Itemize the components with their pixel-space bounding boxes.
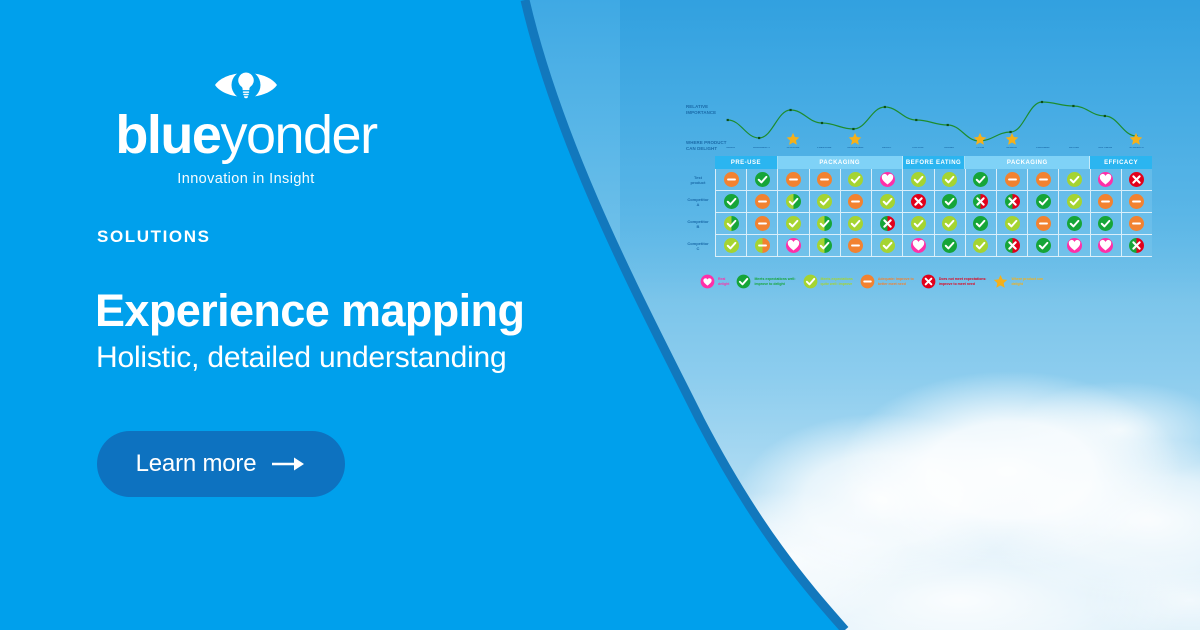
fails-badge-icon: [973, 194, 988, 209]
eyebrow-label: SOLUTIONS: [97, 227, 211, 247]
exceeds-badge-icon: [724, 216, 739, 231]
legend-label: Real delight: [718, 277, 729, 286]
matrix-cell[interactable]: [778, 213, 809, 235]
adequate-badge-icon: [1005, 172, 1020, 187]
matrix-cell[interactable]: [903, 169, 934, 191]
matrix-cell[interactable]: [966, 191, 997, 213]
delight-star-icon: [996, 132, 1027, 146]
meets-badge-icon: [1067, 172, 1082, 187]
attribute-label: COLOUR: [902, 147, 933, 150]
attribute-label-row: SHAPEHOLDABILITYCLOSUREPRESSUREDISPENSIN…: [715, 147, 1152, 156]
exceeds-badge-icon: [817, 238, 832, 253]
delight-badge-icon: [1098, 172, 1113, 187]
matrix-cell[interactable]: [872, 191, 903, 213]
adequate-badge-icon: [1129, 194, 1144, 209]
matrix-cell[interactable]: [935, 235, 966, 257]
adequate-badge-icon: [755, 238, 770, 253]
meets-badge-icon: [848, 216, 863, 231]
matrix-cell[interactable]: [1028, 169, 1059, 191]
matrix-cell[interactable]: [1122, 169, 1152, 191]
meets-badge-icon: [848, 172, 863, 187]
adequate-badge-icon: [1036, 172, 1051, 187]
delight-star-icon: [965, 132, 996, 146]
matrix-cell[interactable]: [966, 169, 997, 191]
exceeds-badge-icon: [724, 194, 739, 209]
page-title: Experience mapping: [95, 288, 524, 333]
matrix-cell[interactable]: [1028, 235, 1059, 257]
attribute-label: PRESSURE: [809, 147, 840, 150]
exceeds-badge-icon: [1036, 238, 1051, 253]
fails-badge-icon: [1005, 194, 1020, 209]
exceeds-badge-icon: [973, 216, 988, 231]
minus-icon: [860, 274, 875, 289]
meets-badge-icon: [817, 194, 832, 209]
matrix-cell[interactable]: [841, 213, 872, 235]
meets-badge-icon: [1005, 216, 1020, 231]
attribute-label: SPREAD: [996, 147, 1027, 150]
matrix-cell[interactable]: [903, 213, 934, 235]
heart-icon: [700, 274, 715, 289]
delight-badge-icon: [911, 238, 926, 253]
attribute-label: FLOW: [965, 147, 996, 150]
exceeds-badge-icon: [942, 194, 957, 209]
logo-word-blue: blue: [115, 108, 220, 162]
matrix-cell[interactable]: [903, 191, 934, 213]
legend-label: Where product can delight: [1011, 277, 1043, 286]
matrix-cell[interactable]: [778, 235, 809, 257]
matrix-cell[interactable]: [1028, 213, 1059, 235]
matrix-cell[interactable]: [747, 213, 778, 235]
matrix-cell[interactable]: [997, 169, 1028, 191]
matrix-cell[interactable]: [778, 169, 809, 191]
matrix-cell[interactable]: [997, 213, 1028, 235]
exceeds-badge-icon: [817, 216, 832, 231]
exceeds-badge-icon: [786, 194, 801, 209]
matrix-cell[interactable]: [935, 169, 966, 191]
matrix-cell[interactable]: [997, 191, 1028, 213]
matrix-row-label: Competitor A: [683, 191, 713, 213]
matrix-cell[interactable]: [810, 169, 841, 191]
experience-map-graphic: RELATIVE IMPORTANCE WHERE PRODUCT CAN DE…: [686, 88, 1152, 320]
matrix-cell[interactable]: [872, 235, 903, 257]
attribute-label: SOFTNESS: [1090, 147, 1121, 150]
matrix-cell[interactable]: [747, 169, 778, 191]
delight-star-icon: [777, 132, 808, 146]
delight-star-icon: [1121, 132, 1152, 146]
meets-badge-icon: [786, 216, 801, 231]
attribute-label: DISPENSING: [840, 147, 871, 150]
matrix-cell[interactable]: [778, 191, 809, 213]
meets-badge-icon: [973, 238, 988, 253]
adequate-badge-icon: [755, 216, 770, 231]
meets-badge-icon: [724, 238, 739, 253]
arrow-right-icon: [272, 456, 306, 472]
matrix-cell[interactable]: [935, 191, 966, 213]
matrix-legend: Real delightMeets expectations well: imp…: [700, 274, 1152, 289]
legend-item: Does not meet expectations: improve to m…: [921, 274, 987, 289]
matrix-cell[interactable]: [1122, 191, 1152, 213]
attribute-label: HOLDABILITY: [746, 147, 777, 150]
meets-badge-icon: [911, 216, 926, 231]
fails-badge-icon: [880, 216, 895, 231]
matrix-row-labels: Test productCompetitor ACompetitor BComp…: [683, 169, 713, 257]
stage-group-header: BEFORE EATING: [903, 156, 966, 169]
stage-group-header: EFFICACY: [1090, 156, 1152, 169]
matrix-cell[interactable]: [872, 169, 903, 191]
matrix-cell[interactable]: [841, 169, 872, 191]
attribute-label: SHAPE: [715, 147, 746, 150]
matrix-cell[interactable]: [1091, 213, 1122, 235]
matrix-cell[interactable]: [810, 213, 841, 235]
legend-label: Adequate: improve to better meet need: [878, 277, 914, 286]
matrix-cell[interactable]: [1059, 169, 1090, 191]
stage-group-header: PRE-USE: [715, 156, 778, 169]
star-icon: [993, 274, 1008, 289]
attribute-label: CLOSURE: [777, 147, 808, 150]
table-row: [715, 213, 1152, 235]
adequate-badge-icon: [848, 194, 863, 209]
legend-item: Where product can delight: [993, 274, 1043, 289]
attribute-label: DRYING: [1058, 147, 1089, 150]
stage-group-header-row: PRE-USEPACKAGINGBEFORE EATINGPACKAGINGEF…: [715, 156, 1152, 169]
logo-wordmark: blueyonder: [96, 108, 396, 162]
matrix-cell[interactable]: [1028, 191, 1059, 213]
matrix-cell[interactable]: [715, 169, 747, 191]
matrix-row-label: Competitor B: [683, 213, 713, 235]
matrix-cell[interactable]: [715, 213, 747, 235]
adequate-badge-icon: [1129, 216, 1144, 231]
matrix-cell[interactable]: [966, 213, 997, 235]
matrix-cell[interactable]: [1091, 235, 1122, 257]
table-row: [715, 169, 1152, 191]
matrix-cell[interactable]: [1091, 169, 1122, 191]
legend-item: Adequate: improve to better meet need: [860, 274, 914, 289]
stage-group-header: PACKAGING: [965, 156, 1090, 169]
fails-badge-icon: [1129, 172, 1144, 187]
logo-tagline: Innovation in Insight: [96, 171, 396, 187]
exceeds-badge-icon: [1067, 216, 1082, 231]
learn-more-button[interactable]: Learn more: [97, 431, 345, 497]
delight-star-icon: [840, 132, 871, 146]
legend-item: Meets expectations well: improve to deli…: [736, 274, 795, 289]
delight-badge-icon: [1067, 238, 1082, 253]
legend-label: Meets expectations quite well: improve: [821, 277, 853, 286]
attribute-label: STRENGTH: [1121, 147, 1152, 150]
logo[interactable]: blueyonder Innovation in Insight: [96, 64, 396, 187]
matrix-cell[interactable]: [715, 235, 747, 257]
matrix-cell[interactable]: [1059, 235, 1090, 257]
fails-badge-icon: [1005, 238, 1020, 253]
adequate-badge-icon: [1036, 216, 1051, 231]
legend-item: Meets expectations quite well: improve: [803, 274, 853, 289]
matrix-cell[interactable]: [747, 235, 778, 257]
stage-group-header: PACKAGING: [778, 156, 903, 169]
matrix-cell[interactable]: [1091, 191, 1122, 213]
meets-badge-icon: [911, 172, 926, 187]
matrix-cell[interactable]: [1059, 213, 1090, 235]
adequate-badge-icon: [817, 172, 832, 187]
meets-badge-icon: [1067, 194, 1082, 209]
table-row: [715, 235, 1152, 257]
delight-badge-icon: [880, 172, 895, 187]
learn-more-label: Learn more: [136, 450, 257, 478]
page-subtitle: Holistic, detailed understanding: [96, 340, 507, 376]
matrix-cell[interactable]: [715, 191, 747, 213]
adequate-badge-icon: [848, 238, 863, 253]
cross-icon: [921, 274, 936, 289]
matrix-cell[interactable]: [872, 213, 903, 235]
matrix-cell[interactable]: [810, 235, 841, 257]
eye-lightbulb-icon: [96, 64, 396, 106]
matrix-cell[interactable]: [997, 235, 1028, 257]
legend-label: Does not meet expectations: improve to m…: [939, 277, 987, 286]
delight-badge-icon: [1098, 238, 1113, 253]
exceeds-badge-icon: [973, 172, 988, 187]
table-row: [715, 191, 1152, 213]
matrix-rows: Test productCompetitor ACompetitor BComp…: [715, 169, 1152, 257]
fails-badge-icon: [911, 194, 926, 209]
matrix-cell[interactable]: [841, 235, 872, 257]
meets-badge-icon: [942, 216, 957, 231]
adequate-badge-icon: [724, 172, 739, 187]
adequate-badge-icon: [786, 172, 801, 187]
matrix-cell[interactable]: [1122, 213, 1152, 235]
exceeds-badge-icon: [1098, 216, 1113, 231]
exceeds-badge-icon: [755, 172, 770, 187]
matrix-row-label: Test product: [683, 169, 713, 191]
meets-badge-icon: [880, 194, 895, 209]
matrix-cell[interactable]: [966, 235, 997, 257]
matrix-cell[interactable]: [1059, 191, 1090, 213]
check-icon: [803, 274, 818, 289]
matrix-cell[interactable]: [747, 191, 778, 213]
meets-badge-icon: [942, 172, 957, 187]
check-icon: [736, 274, 751, 289]
matrix-cell[interactable]: [903, 235, 934, 257]
delight-badge-icon: [786, 238, 801, 253]
legend-item: Real delight: [700, 274, 729, 289]
experience-matrix: PRE-USEPACKAGINGBEFORE EATINGPACKAGINGEF…: [715, 156, 1152, 257]
logo-word-yonder: yonder: [220, 108, 376, 162]
matrix-cell[interactable]: [841, 191, 872, 213]
promo-banner: blueyonder Innovation in Insight SOLUTIO…: [0, 0, 1200, 630]
exceeds-badge-icon: [1036, 194, 1051, 209]
matrix-cell[interactable]: [1122, 235, 1152, 257]
exceeds-badge-icon: [942, 238, 957, 253]
adequate-badge-icon: [755, 194, 770, 209]
legend-label: Meets expectations well: improve to deli…: [754, 277, 795, 286]
adequate-badge-icon: [1098, 194, 1113, 209]
matrix-cell[interactable]: [935, 213, 966, 235]
attribute-label: CLEANING: [1027, 147, 1058, 150]
attribute-label: REFILL: [871, 147, 902, 150]
fails-badge-icon: [1129, 238, 1144, 253]
attribute-label: AROMA: [934, 147, 965, 150]
matrix-cell[interactable]: [810, 191, 841, 213]
meets-badge-icon: [880, 238, 895, 253]
matrix-row-label: Competitor C: [683, 235, 713, 257]
